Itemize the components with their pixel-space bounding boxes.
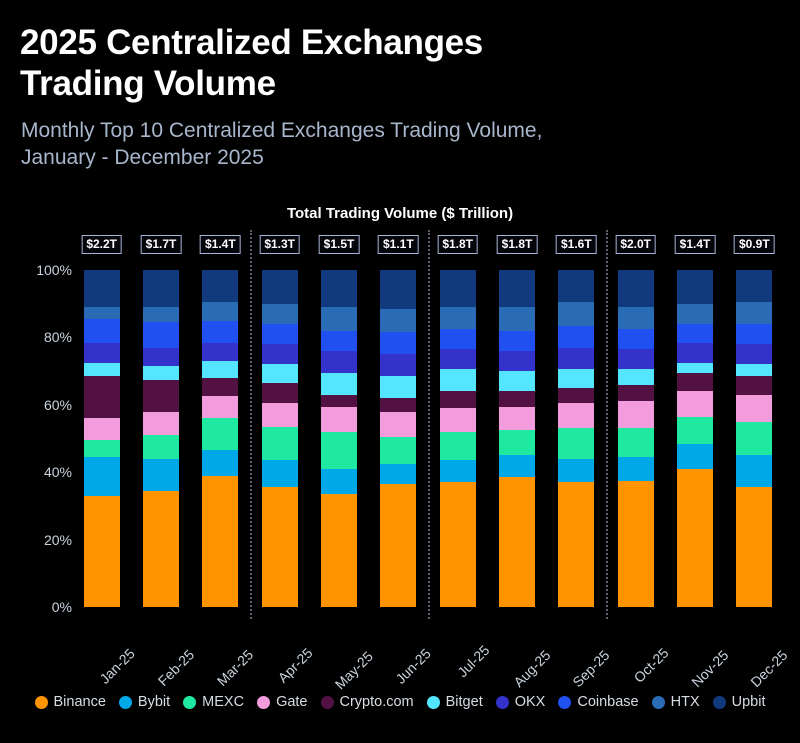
bar-segment-okx[interactable]	[202, 343, 238, 362]
y-axis-tick-label: 80%	[20, 329, 72, 345]
bar-total-label: $1.4T	[200, 235, 241, 254]
legend-swatch-icon	[652, 696, 665, 709]
bar-segment-bybit[interactable]	[143, 459, 179, 491]
bar-segment-coinbase[interactable]	[618, 329, 654, 349]
bar-segment-bitget[interactable]	[321, 373, 357, 395]
bar-segment-upbit[interactable]	[558, 270, 594, 302]
x-axis-tick-label: Apr-25	[274, 645, 315, 686]
bar-segment-bitget[interactable]	[143, 366, 179, 379]
stacked-bar[interactable]	[321, 270, 357, 607]
bar-segment-gate[interactable]	[84, 418, 120, 440]
bar-segment-coinbase[interactable]	[202, 321, 238, 343]
y-axis-tick-label: 60%	[20, 397, 72, 413]
bar-segment-bybit[interactable]	[677, 444, 713, 469]
bar-segment-upbit[interactable]	[262, 270, 298, 304]
bar-segment-okx[interactable]	[736, 344, 772, 364]
legend-label: Bitget	[446, 694, 483, 710]
bar-segment-upbit[interactable]	[321, 270, 357, 307]
bar-segment-bybit[interactable]	[380, 464, 416, 484]
bar-total-label: $1.8T	[437, 235, 478, 254]
bar-segment-okx[interactable]	[321, 351, 357, 373]
bar-segment-bitget[interactable]	[202, 361, 238, 378]
bar-segment-htx[interactable]	[202, 302, 238, 321]
bar-segment-mexc[interactable]	[736, 422, 772, 456]
bar-segment-mexc[interactable]	[558, 428, 594, 458]
stacked-bar[interactable]	[440, 270, 476, 607]
bar-segment-binance[interactable]	[143, 491, 179, 607]
bar-segment-okx[interactable]	[380, 354, 416, 376]
y-axis: 0%20%40%60%80%100%	[0, 0, 72, 743]
bar-segment-binance[interactable]	[321, 494, 357, 607]
bar-segment-htx[interactable]	[736, 302, 772, 324]
stacked-bar[interactable]	[558, 270, 594, 607]
bar-segment-bybit[interactable]	[736, 455, 772, 487]
bar-segment-crypto-com[interactable]	[84, 376, 120, 418]
bar-segment-upbit[interactable]	[84, 270, 120, 307]
bar-segment-gate[interactable]	[499, 407, 535, 431]
x-axis-tick-label: Jan-25	[96, 645, 138, 687]
bar-segment-upbit[interactable]	[440, 270, 476, 307]
bar-segment-gate[interactable]	[143, 412, 179, 436]
bar-segment-okx[interactable]	[143, 348, 179, 367]
legend-item-coinbase[interactable]: Coinbase	[558, 694, 638, 710]
bar-segment-bitget[interactable]	[558, 369, 594, 388]
bar-segment-okx[interactable]	[440, 349, 476, 369]
bar-segment-htx[interactable]	[143, 307, 179, 322]
bar-segment-coinbase[interactable]	[321, 331, 357, 351]
stacked-bar[interactable]	[618, 270, 654, 607]
bar-segment-htx[interactable]	[499, 307, 535, 331]
legend-item-htx[interactable]: HTX	[652, 694, 700, 710]
legend-label: MEXC	[202, 694, 244, 710]
bar-segment-mexc[interactable]	[143, 435, 179, 459]
legend-swatch-icon	[35, 696, 48, 709]
plot-header-title: Total Trading Volume ($ Trillion)	[0, 205, 800, 222]
bar-segment-upbit[interactable]	[143, 270, 179, 307]
bar-segment-coinbase[interactable]	[736, 324, 772, 344]
quarter-divider	[250, 230, 252, 619]
bar-segment-crypto-com[interactable]	[558, 388, 594, 403]
bar-segment-okx[interactable]	[618, 349, 654, 369]
stacked-bar[interactable]	[677, 270, 713, 607]
legend-swatch-icon	[496, 696, 509, 709]
stacked-bar[interactable]	[262, 270, 298, 607]
bar-segment-mexc[interactable]	[677, 417, 713, 444]
bar-total-label: $1.8T	[497, 235, 538, 254]
bar-total-label: $1.5T	[319, 235, 360, 254]
bar-segment-bybit[interactable]	[202, 450, 238, 475]
bar-segment-gate[interactable]	[677, 391, 713, 416]
bar-segment-crypto-com[interactable]	[499, 391, 535, 406]
bar-segment-okx[interactable]	[262, 344, 298, 364]
legend-item-binance[interactable]: Binance	[35, 694, 106, 710]
bar-segment-bitget[interactable]	[677, 363, 713, 373]
bar-total-label: $2.0T	[615, 235, 656, 254]
x-axis-tick-label: Sep-25	[570, 647, 613, 690]
y-axis-tick-label: 0%	[20, 599, 72, 615]
x-axis-tick-label: Oct-25	[630, 645, 671, 686]
bar-segment-htx[interactable]	[558, 302, 594, 326]
bar-segment-coinbase[interactable]	[677, 324, 713, 343]
bar-segment-gate[interactable]	[380, 412, 416, 437]
quarter-divider	[428, 230, 430, 619]
page-title: 2025 Centralized Exchanges Trading Volum…	[20, 22, 780, 105]
bar-segment-binance[interactable]	[380, 484, 416, 607]
legend-item-bybit[interactable]: Bybit	[119, 694, 170, 710]
bar-segment-gate[interactable]	[202, 396, 238, 418]
bar-segment-gate[interactable]	[618, 401, 654, 428]
bar-segment-binance[interactable]	[736, 487, 772, 607]
legend-swatch-icon	[427, 696, 440, 709]
bar-segment-binance[interactable]	[84, 496, 120, 607]
bar-segment-htx[interactable]	[440, 307, 476, 329]
legend-swatch-icon	[119, 696, 132, 709]
bar-segment-coinbase[interactable]	[380, 332, 416, 354]
legend-swatch-icon	[713, 696, 726, 709]
bar-segment-crypto-com[interactable]	[736, 376, 772, 395]
legend-item-crypto-com[interactable]: Crypto.com	[321, 694, 414, 710]
x-axis-tick-label: Aug-25	[510, 647, 553, 690]
bar-segment-bitget[interactable]	[618, 369, 654, 384]
bar-segment-bybit[interactable]	[499, 455, 535, 477]
legend-label: Binance	[54, 694, 106, 710]
bar-segment-bitget[interactable]	[84, 363, 120, 376]
legend-label: Upbit	[732, 694, 766, 710]
bar-segment-mexc[interactable]	[380, 437, 416, 464]
legend-item-gate[interactable]: Gate	[257, 694, 307, 710]
legend-swatch-icon	[257, 696, 270, 709]
bar-segment-crypto-com[interactable]	[202, 378, 238, 397]
bar-total-label: $1.7T	[141, 235, 182, 254]
legend-label: Bybit	[138, 694, 170, 710]
stacked-bar[interactable]	[143, 270, 179, 607]
bar-segment-coinbase[interactable]	[499, 331, 535, 351]
legend-swatch-icon	[183, 696, 196, 709]
bar-segment-htx[interactable]	[84, 307, 120, 319]
bar-segment-bitget[interactable]	[380, 376, 416, 398]
stacked-bar[interactable]	[499, 270, 535, 607]
x-axis-tick-label: May-25	[332, 648, 376, 692]
chart-canvas: 2025 Centralized Exchanges Trading Volum…	[0, 0, 800, 743]
bar-segment-upbit[interactable]	[618, 270, 654, 307]
x-axis-tick-label: Jun-25	[393, 645, 435, 687]
chart-legend: BinanceBybitMEXCGateCrypto.comBitgetOKXC…	[0, 694, 800, 710]
bar-segment-bitget[interactable]	[499, 371, 535, 391]
bar-segment-coinbase[interactable]	[558, 326, 594, 348]
legend-item-mexc[interactable]: MEXC	[183, 694, 244, 710]
bar-segment-coinbase[interactable]	[143, 322, 179, 347]
bar-segment-mexc[interactable]	[618, 428, 654, 457]
bar-segment-coinbase[interactable]	[440, 329, 476, 349]
bar-segment-bybit[interactable]	[321, 469, 357, 494]
bar-segment-gate[interactable]	[558, 403, 594, 428]
bar-total-label: $0.9T	[734, 235, 775, 254]
bar-total-label: $1.3T	[259, 235, 300, 254]
x-axis-tick-label: Dec-25	[748, 647, 791, 690]
legend-item-okx[interactable]: OKX	[496, 694, 546, 710]
bar-segment-okx[interactable]	[499, 351, 535, 371]
stacked-bar[interactable]	[736, 270, 772, 607]
bar-segment-crypto-com[interactable]	[321, 395, 357, 407]
legend-item-upbit[interactable]: Upbit	[713, 694, 766, 710]
bar-segment-binance[interactable]	[262, 487, 298, 607]
bar-total-label: $2.2T	[81, 235, 122, 254]
bar-segment-gate[interactable]	[262, 403, 298, 427]
bar-segment-crypto-com[interactable]	[143, 380, 179, 412]
bar-segment-mexc[interactable]	[262, 427, 298, 461]
legend-label: OKX	[515, 694, 546, 710]
plot-area: $2.2TJan-25$1.7TFeb-25$1.4TMar-25$1.3TAp…	[72, 270, 784, 607]
bar-segment-bybit[interactable]	[440, 460, 476, 482]
bar-segment-mexc[interactable]	[84, 440, 120, 457]
bar-segment-bybit[interactable]	[558, 459, 594, 483]
legend-label: Gate	[276, 694, 307, 710]
bar-segment-binance[interactable]	[618, 481, 654, 607]
page-subtitle: Monthly Top 10 Centralized Exchanges Tra…	[21, 118, 776, 172]
stacked-bar[interactable]	[84, 270, 120, 607]
stacked-bar[interactable]	[380, 270, 416, 607]
bar-segment-crypto-com[interactable]	[380, 398, 416, 411]
legend-swatch-icon	[321, 696, 334, 709]
bar-segment-htx[interactable]	[677, 304, 713, 324]
bar-segment-crypto-com[interactable]	[440, 391, 476, 408]
bar-segment-crypto-com[interactable]	[262, 383, 298, 403]
bar-segment-binance[interactable]	[499, 477, 535, 607]
bar-segment-binance[interactable]	[202, 476, 238, 607]
bar-segment-gate[interactable]	[321, 407, 357, 432]
x-axis-tick-label: Nov-25	[688, 647, 731, 690]
bar-segment-gate[interactable]	[440, 408, 476, 432]
bar-total-label: $1.1T	[378, 235, 419, 254]
legend-item-bitget[interactable]: Bitget	[427, 694, 483, 710]
bar-segment-mexc[interactable]	[202, 418, 238, 450]
legend-label: HTX	[671, 694, 700, 710]
x-axis-tick-label: Mar-25	[214, 646, 257, 689]
legend-swatch-icon	[558, 696, 571, 709]
bar-segment-bybit[interactable]	[84, 457, 120, 496]
bar-total-label: $1.6T	[556, 235, 597, 254]
bar-segment-gate[interactable]	[736, 395, 772, 422]
x-axis-tick-label: Feb-25	[155, 646, 198, 689]
bar-segment-coinbase[interactable]	[84, 319, 120, 343]
bar-segment-htx[interactable]	[262, 304, 298, 324]
bar-segment-bybit[interactable]	[618, 457, 654, 481]
quarter-divider	[606, 230, 608, 619]
bar-segment-coinbase[interactable]	[262, 324, 298, 344]
bar-segment-bybit[interactable]	[262, 460, 298, 487]
bar-segment-binance[interactable]	[440, 482, 476, 607]
bar-segment-upbit[interactable]	[202, 270, 238, 302]
bar-segment-upbit[interactable]	[380, 270, 416, 309]
stacked-bar[interactable]	[202, 270, 238, 607]
bar-segment-upbit[interactable]	[677, 270, 713, 304]
bar-segment-htx[interactable]	[321, 307, 357, 331]
bar-segment-okx[interactable]	[677, 343, 713, 363]
bar-segment-bitget[interactable]	[736, 364, 772, 376]
bar-segment-mexc[interactable]	[321, 432, 357, 469]
bar-segment-binance[interactable]	[677, 469, 713, 607]
bar-segment-upbit[interactable]	[499, 270, 535, 307]
bar-segment-htx[interactable]	[380, 309, 416, 333]
bar-segment-okx[interactable]	[84, 343, 120, 363]
bar-segment-htx[interactable]	[618, 307, 654, 329]
y-axis-tick-label: 100%	[20, 262, 72, 278]
bar-segment-bitget[interactable]	[262, 364, 298, 383]
bar-segment-crypto-com[interactable]	[618, 385, 654, 402]
bar-segment-upbit[interactable]	[736, 270, 772, 302]
legend-label: Coinbase	[577, 694, 638, 710]
legend-label: Crypto.com	[340, 694, 414, 710]
bar-segment-crypto-com[interactable]	[677, 373, 713, 392]
bar-total-label: $1.4T	[675, 235, 716, 254]
y-axis-tick-label: 40%	[20, 464, 72, 480]
x-axis-tick-label: Jul-25	[454, 642, 492, 680]
bar-segment-mexc[interactable]	[499, 430, 535, 455]
bar-segment-binance[interactable]	[558, 482, 594, 607]
bar-segment-bitget[interactable]	[440, 369, 476, 391]
bar-segment-okx[interactable]	[558, 348, 594, 370]
y-axis-tick-label: 20%	[20, 532, 72, 548]
bar-segment-mexc[interactable]	[440, 432, 476, 461]
